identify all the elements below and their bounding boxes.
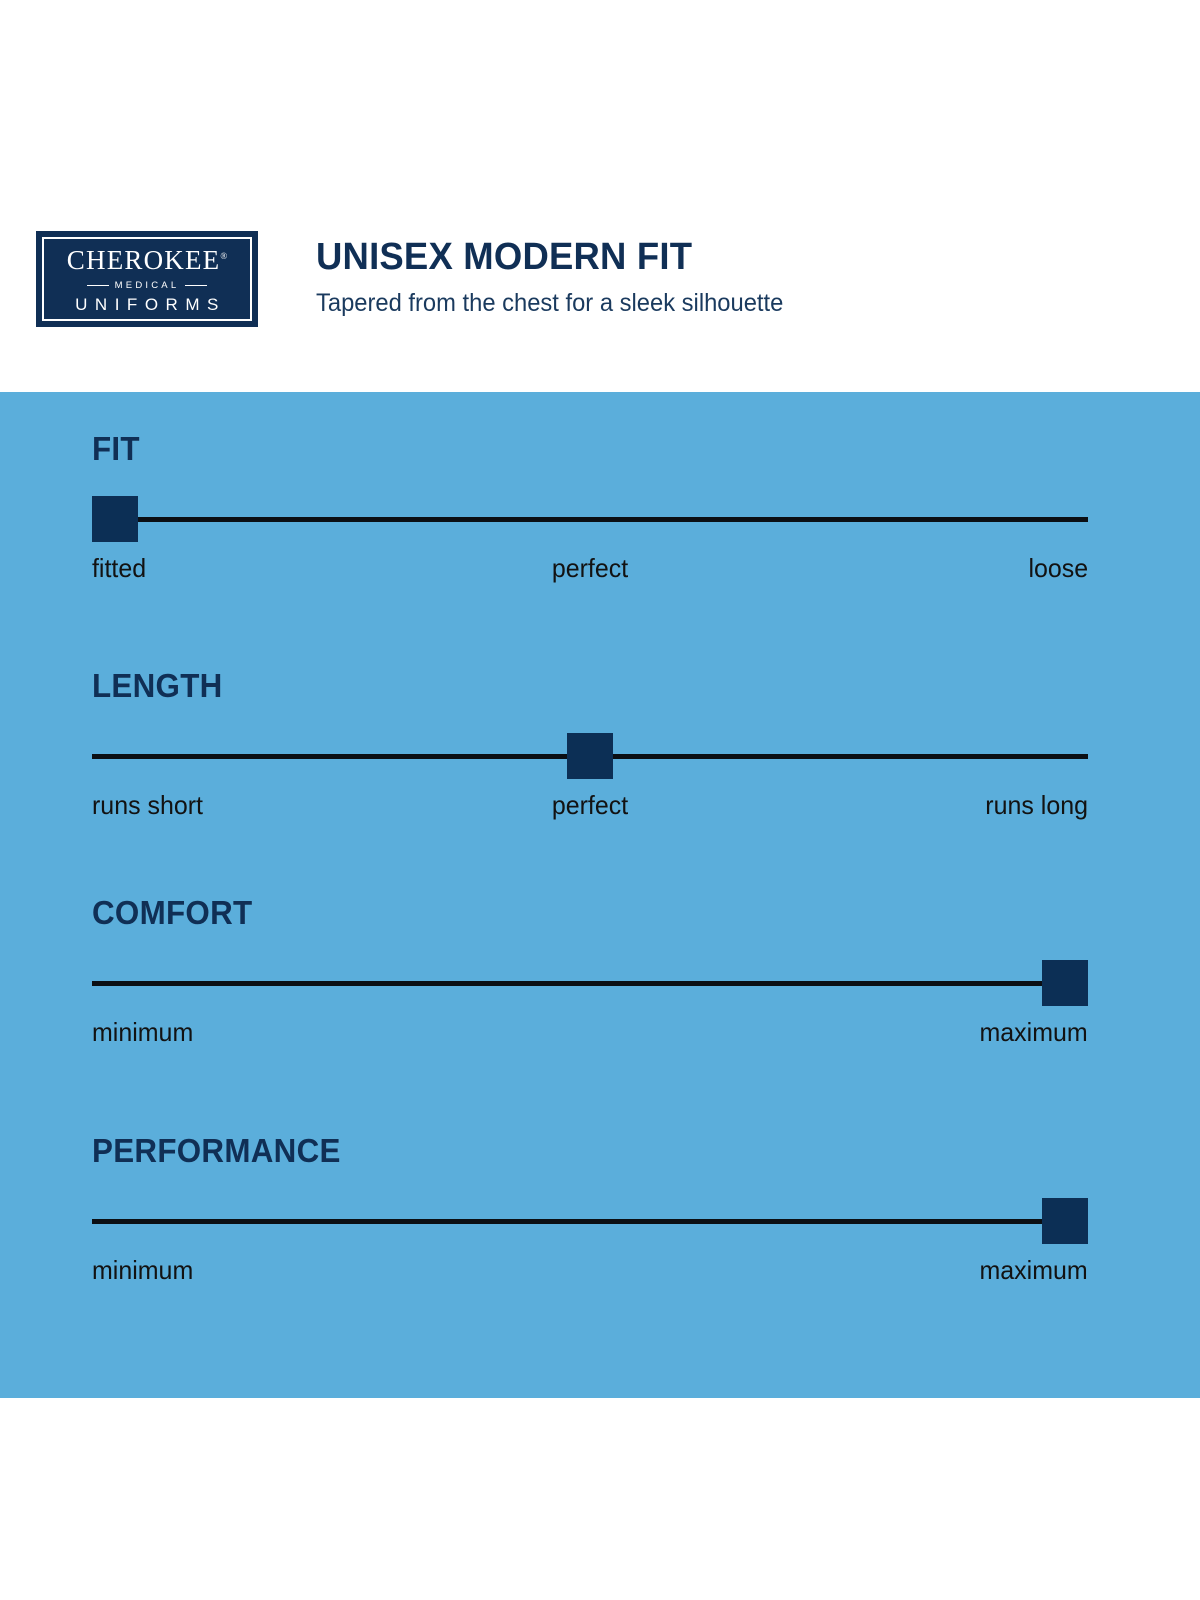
header-text-block: UNISEX MODERN FIT Tapered from the chest…	[316, 238, 808, 317]
slider-block-performance: PERFORMANCE minimum maximum	[92, 1134, 1088, 1289]
slider-heading-length: LENGTH	[92, 669, 1038, 702]
slider-heading-fit: FIT	[92, 432, 1038, 465]
slider-labels-fit: fitted perfect loose	[92, 553, 1088, 587]
slider-track-wrap-comfort[interactable]	[92, 955, 1088, 1011]
slider-label-fit-left: fitted	[92, 553, 146, 584]
slider-label-comfort-right: maximum	[980, 1017, 1088, 1048]
registered-trademark-icon: ®	[220, 251, 227, 261]
slider-label-performance-left: minimum	[92, 1255, 193, 1286]
page-title: UNISEX MODERN FIT	[316, 238, 788, 278]
slider-track-fit	[92, 517, 1088, 522]
header: CHEROKEE® MEDICAL UNIFORMS UNISEX MODERN…	[0, 0, 1200, 392]
slider-label-performance-right: maximum	[980, 1255, 1088, 1286]
logo-inner-border: CHEROKEE® MEDICAL UNIFORMS	[42, 237, 252, 321]
logo-uniforms-text: UNIFORMS	[75, 296, 226, 313]
slider-track-comfort	[92, 981, 1088, 986]
slider-labels-length: runs short perfect runs long	[92, 790, 1088, 824]
slider-block-comfort: COMFORT minimum maximum	[92, 896, 1088, 1051]
fit-scales-panel: FIT fitted perfect loose LENGTH runs sho…	[0, 392, 1200, 1398]
slider-track-performance	[92, 1219, 1088, 1224]
slider-label-length-center: perfect	[552, 790, 628, 821]
footer-whitespace	[0, 1398, 1200, 1600]
logo-brand-name: CHEROKEE®	[67, 247, 227, 274]
logo-rule-left-icon	[87, 285, 109, 287]
slider-track-wrap-length[interactable]	[92, 728, 1088, 784]
slider-thumb-performance[interactable]	[1042, 1198, 1088, 1244]
logo-medical-row: MEDICAL	[44, 281, 250, 291]
slider-heading-performance: PERFORMANCE	[92, 1134, 1038, 1167]
slider-thumb-comfort[interactable]	[1042, 960, 1088, 1006]
slider-label-fit-right: loose	[1028, 553, 1088, 584]
logo-medical-text: MEDICAL	[115, 281, 180, 291]
slider-label-fit-center: perfect	[552, 553, 628, 584]
logo-brand-text: CHEROKEE	[67, 245, 221, 275]
slider-labels-performance: minimum maximum	[92, 1255, 1088, 1289]
slider-block-fit: FIT fitted perfect loose	[92, 432, 1088, 587]
page-subtitle: Tapered from the chest for a sleek silho…	[316, 290, 783, 318]
cherokee-logo: CHEROKEE® MEDICAL UNIFORMS	[36, 231, 258, 327]
slider-track-wrap-fit[interactable]	[92, 491, 1088, 547]
slider-block-length: LENGTH runs short perfect runs long	[92, 669, 1088, 824]
slider-label-length-right: runs long	[985, 790, 1088, 821]
slider-label-comfort-left: minimum	[92, 1017, 193, 1048]
fit-guide-page: CHEROKEE® MEDICAL UNIFORMS UNISEX MODERN…	[0, 0, 1200, 1600]
slider-thumb-length[interactable]	[567, 733, 613, 779]
logo-rule-right-icon	[185, 285, 207, 287]
slider-track-wrap-performance[interactable]	[92, 1193, 1088, 1249]
slider-thumb-fit[interactable]	[92, 496, 138, 542]
slider-label-length-left: runs short	[92, 790, 203, 821]
slider-heading-comfort: COMFORT	[92, 896, 1038, 929]
slider-labels-comfort: minimum maximum	[92, 1017, 1088, 1051]
